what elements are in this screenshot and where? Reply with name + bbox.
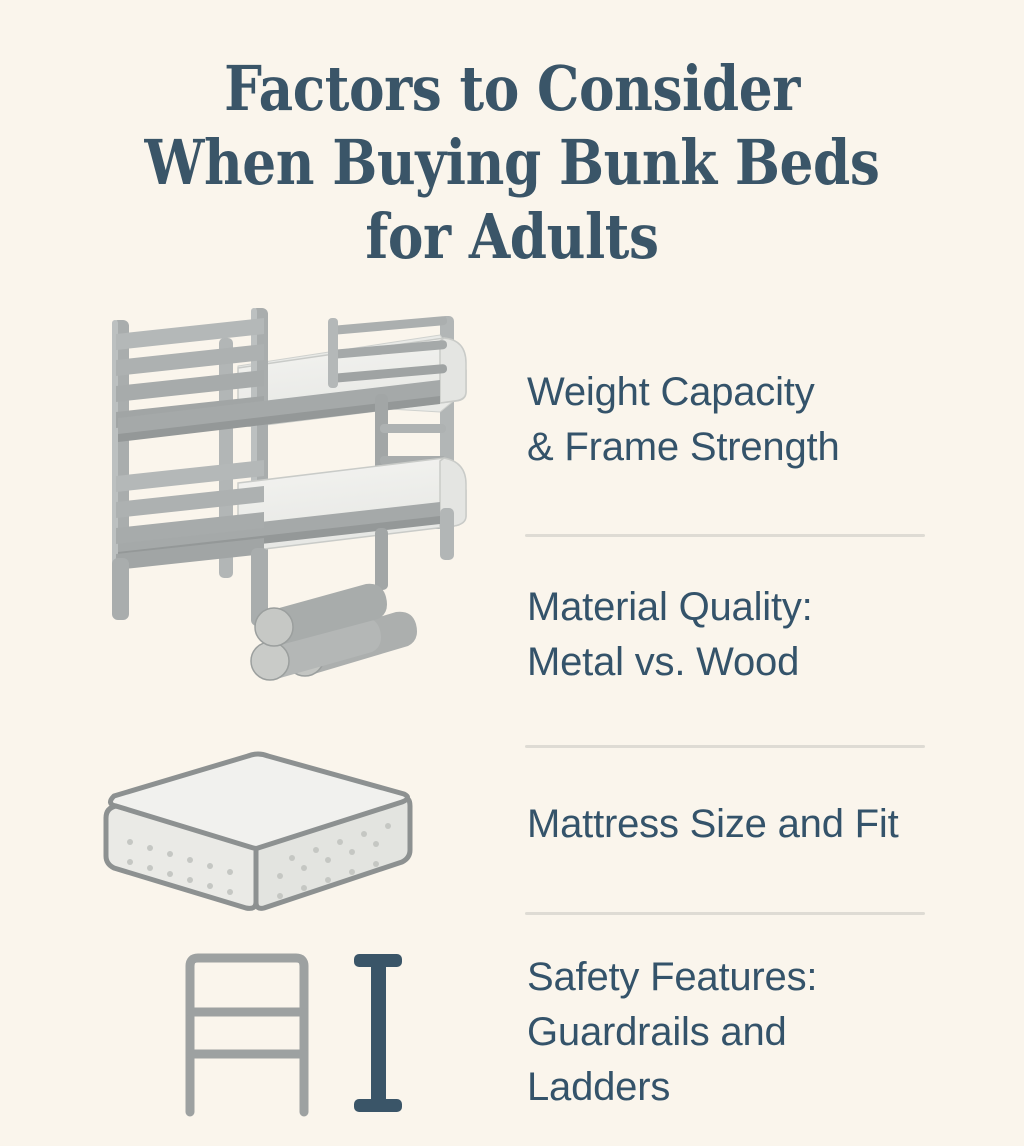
label-line-2: Metal vs. Wood	[527, 635, 937, 690]
item-label-material-quality: Material Quality: Metal vs. Wood	[527, 580, 937, 690]
list-item-safety-features: Safety Features: Guardrails and Ladders	[0, 930, 1024, 1140]
guardrail-ladder-icon	[178, 942, 418, 1122]
label-line-2: & Frame Strength	[527, 420, 937, 475]
title-line-1: Factors to Consider	[72, 52, 953, 126]
divider-1	[525, 534, 925, 537]
page-title: Factors to Consider When Buying Bunk Bed…	[0, 52, 1024, 274]
label-line-1: Mattress Size and Fit	[527, 797, 937, 852]
wood-logs-icon	[248, 582, 438, 692]
list-item-weight-capacity: Weight Capacity & Frame Strength	[0, 300, 1024, 540]
label-line-2: Guardrails and	[527, 1005, 937, 1060]
label-line-1: Material Quality:	[527, 580, 937, 635]
mattress-icon	[98, 750, 418, 915]
item-label-mattress-size: Mattress Size and Fit	[527, 797, 937, 852]
item-label-safety-features: Safety Features: Guardrails and Ladders	[527, 950, 937, 1115]
title-line-3: for Adults	[72, 200, 953, 274]
label-line-1: Safety Features:	[527, 950, 937, 1005]
label-line-1: Weight Capacity	[527, 365, 937, 420]
item-label-weight-capacity: Weight Capacity & Frame Strength	[527, 365, 937, 475]
infographic-page: Factors to Consider When Buying Bunk Bed…	[0, 0, 1024, 1146]
divider-3	[525, 912, 925, 915]
title-line-2: When Buying Bunk Beds	[72, 126, 953, 200]
label-line-3: Ladders	[527, 1060, 937, 1115]
